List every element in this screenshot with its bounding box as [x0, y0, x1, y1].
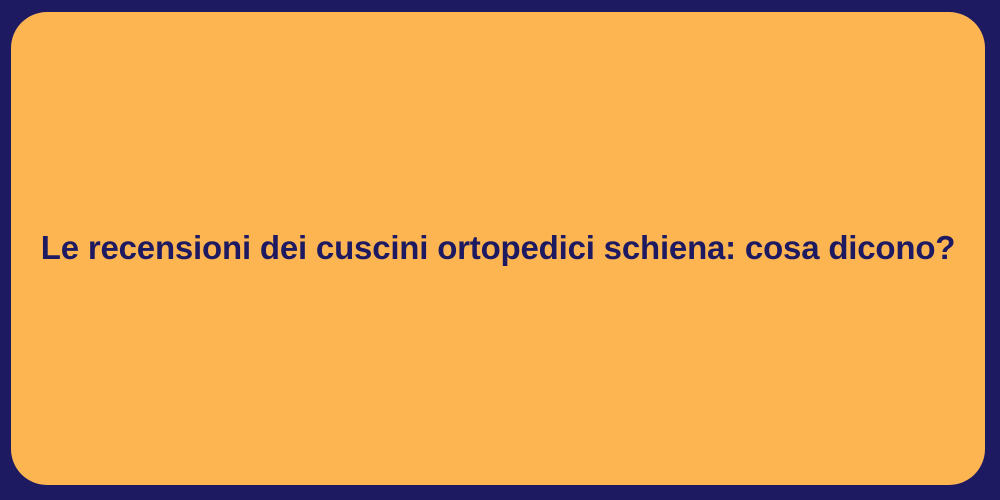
- page-title: Le recensioni dei cuscini ortopedici sch…: [11, 227, 985, 270]
- banner-frame: Le recensioni dei cuscini ortopedici sch…: [0, 0, 1000, 500]
- banner-panel: Le recensioni dei cuscini ortopedici sch…: [11, 12, 985, 485]
